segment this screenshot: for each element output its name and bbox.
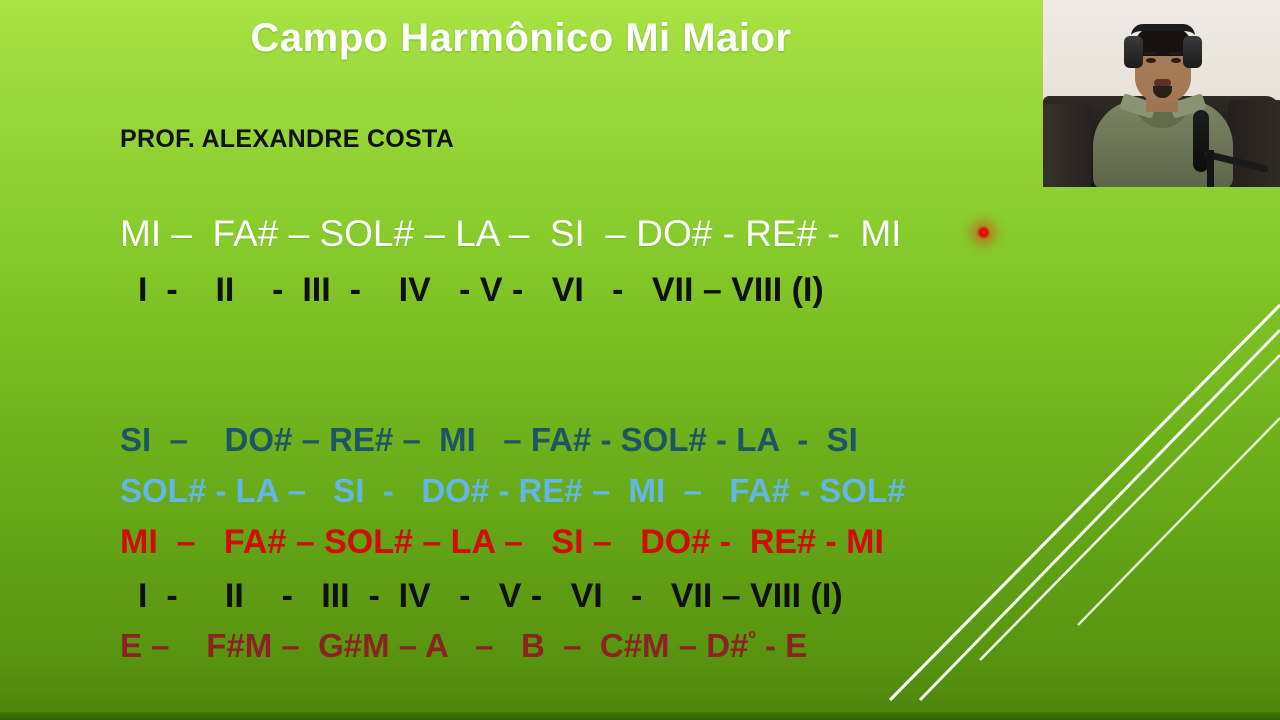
slide-bottom-band bbox=[0, 712, 1280, 720]
webcam-eyebrow-right bbox=[1169, 52, 1182, 55]
chord-names-prefix: E – F#M – G#M – A – B – C#M – D# bbox=[120, 627, 748, 664]
headphones-earcup-right-icon bbox=[1183, 36, 1202, 68]
webcam-eye-right bbox=[1171, 58, 1181, 63]
webcam-sofa-right-arm bbox=[1228, 100, 1280, 187]
webcam-eye-left bbox=[1146, 58, 1156, 63]
presenter-name-subtitle: PROF. ALEXANDRE COSTA bbox=[120, 125, 454, 154]
presentation-slide: Campo Harmônico Mi Maior PROF. ALEXANDRE… bbox=[0, 0, 1280, 720]
scale-line-b-major-teal: SI – DO# – RE# – MI – FA# - SOL# - LA - … bbox=[120, 421, 858, 459]
diagonal-streak-decoration bbox=[860, 260, 1280, 720]
presenter-webcam-overlay[interactable] bbox=[1043, 0, 1280, 187]
webcam-eyebrow-left bbox=[1144, 52, 1157, 55]
scale-line-e-major-red: MI – FA# – SOL# – LA – SI – DO# - RE# - … bbox=[120, 523, 884, 562]
roman-numerals-line-bottom: I - II - III - IV - V - VI - VII – VIII … bbox=[138, 577, 843, 616]
chord-names-suffix: - E bbox=[756, 627, 807, 664]
headphones-earcup-left-icon bbox=[1124, 36, 1143, 68]
microphone-stand bbox=[1207, 150, 1214, 187]
slide-title: Campo Harmônico Mi Maior bbox=[0, 16, 1042, 61]
diminished-degree-symbol: º bbox=[748, 627, 755, 650]
chord-names-line: E – F#M – G#M – A – B – C#M – D#º - E bbox=[120, 627, 807, 665]
roman-numerals-line-top: I - II - III - IV - V - VI - VII – VIII … bbox=[138, 271, 824, 310]
scale-line-e-major-white: MI – FA# – SOL# – LA – SI – DO# - RE# - … bbox=[120, 213, 901, 255]
laser-pointer-dot bbox=[975, 224, 992, 241]
scale-line-gsharp-lightblue: SOL# - LA – SI - DO# - RE# – MI – FA# - … bbox=[120, 472, 905, 510]
headphones-headband-icon bbox=[1131, 24, 1195, 36]
webcam-sofa-left-arm bbox=[1043, 104, 1091, 187]
